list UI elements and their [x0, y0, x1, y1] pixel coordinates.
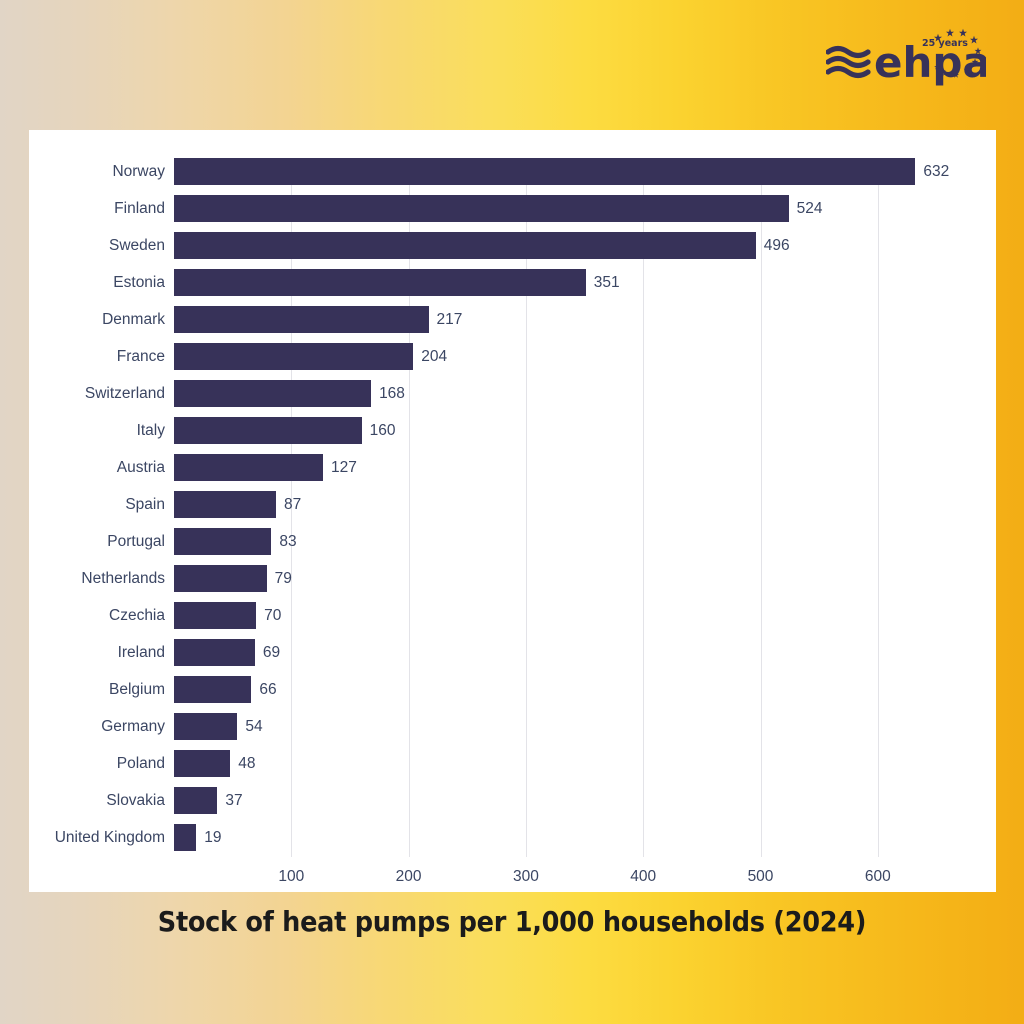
bar[interactable]	[174, 824, 196, 851]
bar-value-label: 127	[331, 454, 357, 481]
bar-row: Netherlands79	[29, 565, 996, 602]
bar-value-label: 632	[923, 158, 949, 185]
bar-row: Belgium66	[29, 676, 996, 713]
x-tick-label-100: 100	[278, 868, 304, 886]
bar[interactable]	[174, 195, 789, 222]
category-label: Austria	[29, 454, 165, 481]
poster-canvas: ehpa 25 years 100200300400500600 Norway6…	[0, 0, 1024, 1024]
category-label: Italy	[29, 417, 165, 444]
bar-value-label: 524	[797, 195, 823, 222]
bar[interactable]	[174, 232, 756, 259]
bar-value-label: 204	[421, 343, 447, 370]
bar-value-label: 37	[225, 787, 242, 814]
category-label: Spain	[29, 491, 165, 518]
category-label: Belgium	[29, 676, 165, 703]
bar-rows: Norway632Finland524Sweden496Estonia351De…	[29, 158, 996, 861]
bar[interactable]	[174, 676, 251, 703]
bar[interactable]	[174, 343, 413, 370]
bar-row: Germany54	[29, 713, 996, 750]
category-label: Slovakia	[29, 787, 165, 814]
bar-value-label: 496	[764, 232, 790, 259]
chart-caption: Stock of heat pumps per 1,000 households…	[36, 906, 988, 938]
category-label: Portugal	[29, 528, 165, 555]
ehpa-logo: ehpa 25 years	[826, 24, 986, 88]
bar[interactable]	[174, 639, 255, 666]
category-label: Sweden	[29, 232, 165, 259]
bar[interactable]	[174, 158, 915, 185]
bar-row: Ireland69	[29, 639, 996, 676]
bar-row: Czechia70	[29, 602, 996, 639]
bar-value-label: 168	[379, 380, 405, 407]
bar-row: United Kingdom19	[29, 824, 996, 861]
bar[interactable]	[174, 713, 237, 740]
bar-row: Poland48	[29, 750, 996, 787]
bar-chart-plot: 100200300400500600 Norway632Finland524Sw…	[29, 130, 996, 892]
bar[interactable]	[174, 417, 362, 444]
bar-row: Norway632	[29, 158, 996, 195]
bar-value-label: 217	[437, 306, 463, 333]
bar-value-label: 79	[275, 565, 292, 592]
bar-value-label: 48	[238, 750, 255, 777]
bar[interactable]	[174, 306, 429, 333]
bar-value-label: 70	[264, 602, 281, 629]
chart-card: 100200300400500600 Norway632Finland524Sw…	[29, 130, 996, 892]
bar[interactable]	[174, 787, 217, 814]
category-label: Poland	[29, 750, 165, 777]
bar[interactable]	[174, 269, 586, 296]
bar-row: Denmark217	[29, 306, 996, 343]
category-label: Czechia	[29, 602, 165, 629]
bar[interactable]	[174, 380, 371, 407]
category-label: Netherlands	[29, 565, 165, 592]
category-label: Switzerland	[29, 380, 165, 407]
category-label: Finland	[29, 195, 165, 222]
bar-value-label: 69	[263, 639, 280, 666]
category-label: United Kingdom	[29, 824, 165, 851]
bar[interactable]	[174, 454, 323, 481]
bar-row: Switzerland168	[29, 380, 996, 417]
bar-row: Estonia351	[29, 269, 996, 306]
waves-icon	[828, 49, 868, 76]
bar-value-label: 54	[245, 713, 262, 740]
bar-value-label: 66	[259, 676, 276, 703]
bar-value-label: 160	[370, 417, 396, 444]
bar-row: Austria127	[29, 454, 996, 491]
bar-row: Finland524	[29, 195, 996, 232]
bar[interactable]	[174, 602, 256, 629]
x-tick-label-500: 500	[748, 868, 774, 886]
category-label: Denmark	[29, 306, 165, 333]
category-label: Norway	[29, 158, 165, 185]
bar-row: Portugal83	[29, 528, 996, 565]
svg-text:25 years: 25 years	[922, 38, 968, 49]
bar-row: Italy160	[29, 417, 996, 454]
category-label: France	[29, 343, 165, 370]
x-tick-label-400: 400	[630, 868, 656, 886]
bar-value-label: 19	[204, 824, 221, 851]
bar[interactable]	[174, 750, 230, 777]
bar-row: Spain87	[29, 491, 996, 528]
bar[interactable]	[174, 491, 276, 518]
bar[interactable]	[174, 565, 267, 592]
bar-value-label: 87	[284, 491, 301, 518]
bar-row: Slovakia37	[29, 787, 996, 824]
x-tick-label-300: 300	[513, 868, 539, 886]
category-label: Estonia	[29, 269, 165, 296]
bar-row: France204	[29, 343, 996, 380]
bar-value-label: 351	[594, 269, 620, 296]
category-label: Ireland	[29, 639, 165, 666]
bar[interactable]	[174, 528, 271, 555]
bar-value-label: 83	[279, 528, 296, 555]
x-tick-label-200: 200	[396, 868, 422, 886]
x-tick-label-600: 600	[865, 868, 891, 886]
category-label: Germany	[29, 713, 165, 740]
bar-row: Sweden496	[29, 232, 996, 269]
